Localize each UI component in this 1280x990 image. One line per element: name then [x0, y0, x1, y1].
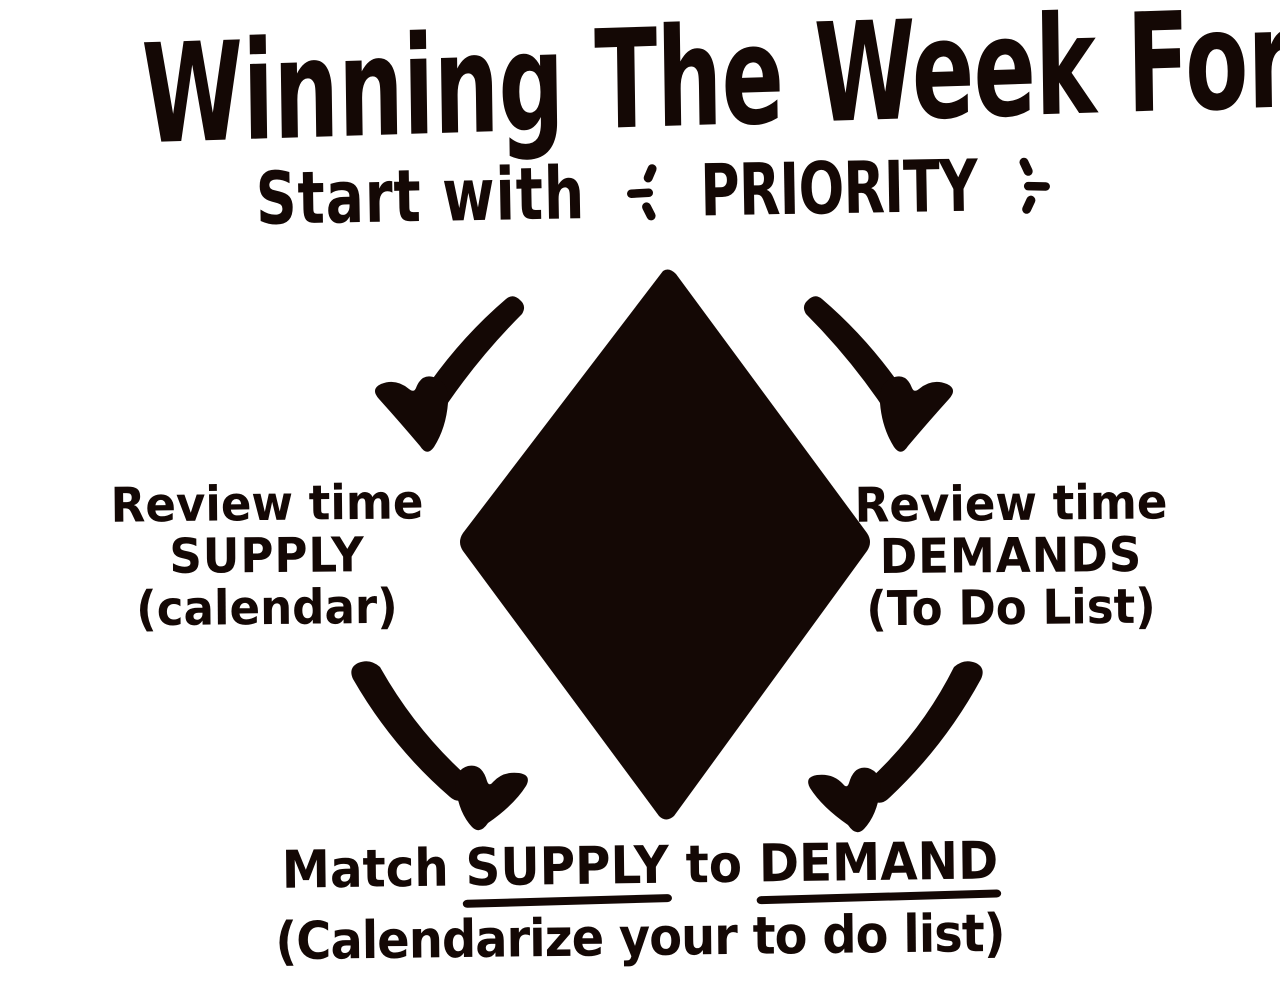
sparkle-lines-right-icon: [1017, 155, 1052, 218]
label-supply: Review time SUPPLY (calendar): [92, 480, 442, 633]
label-demands: Review time DEMANDS (To Do List): [836, 480, 1186, 633]
label-supply-line3: (calendar): [102, 582, 431, 634]
label-demands-line1: Review time: [846, 478, 1175, 531]
footer-line-2: (Calendarize your to do list): [51, 905, 1229, 970]
footer-line-1: Match SUPPLY to DEMAND: [45, 832, 1236, 900]
curved-arrow-down-right-icon: [800, 292, 976, 462]
curved-arrow-down-right-icon: [346, 655, 536, 835]
label-demands-line3: (To Do List): [846, 582, 1175, 634]
diagram-canvas: Winning The Week Formula: Start with PRI…: [0, 0, 1280, 990]
footer-supply-underlined: SUPPLY: [465, 840, 669, 895]
footer-match-text: Match: [281, 838, 465, 900]
label-supply-line1: Review time: [102, 478, 431, 531]
label-demands-line2: DEMANDS: [846, 531, 1175, 582]
sparkle-lines-left-icon: [625, 162, 660, 225]
subtitle-emphasis-text: PRIORITY: [699, 151, 977, 227]
page-title: Winning The Week Formula:: [141, 0, 1141, 169]
subtitle-lead-text: Start with: [255, 158, 585, 236]
curved-arrow-down-left-icon: [352, 292, 528, 462]
curved-arrow-down-left-icon: [804, 655, 988, 837]
footer-to-text: to: [669, 834, 760, 895]
footer-demand-underlined: DEMAND: [759, 835, 999, 890]
label-supply-line2: SUPPLY: [102, 531, 431, 582]
